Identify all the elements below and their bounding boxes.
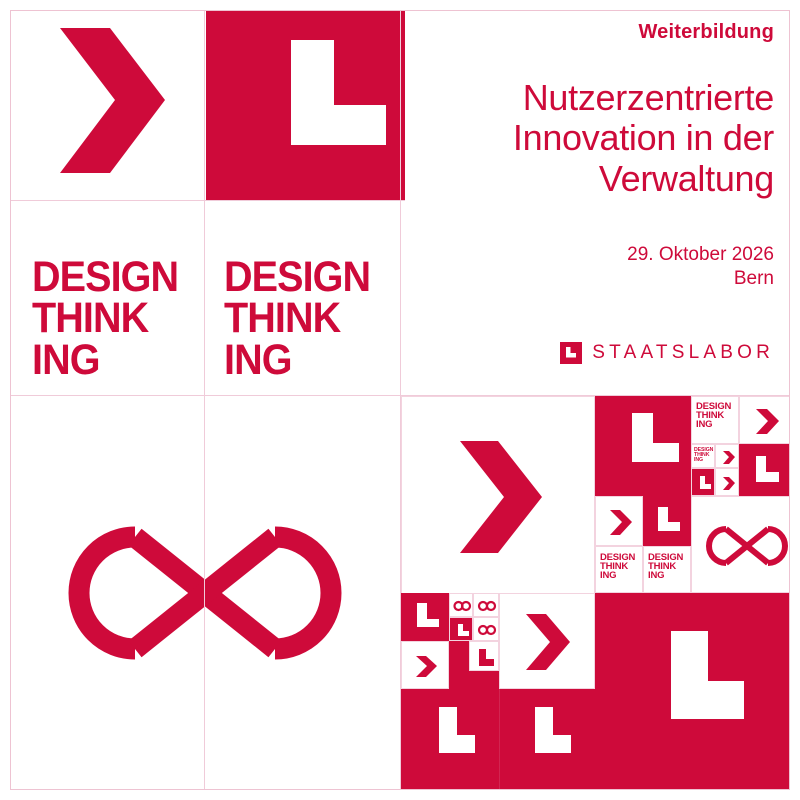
mosaic-cell-red-l-1: [595, 396, 691, 496]
design-thinking-wordmark: DESIGN THINK ING: [696, 402, 738, 429]
mosaic-cell-infinity-xs-3: [473, 617, 499, 641]
mosaic-cell-dt-1: DESIGN THINK ING: [595, 546, 643, 593]
mosaic-cell-infinity: [691, 496, 790, 593]
title-line-1: Nutzerzentrierte: [513, 78, 774, 118]
mosaic-cell-l-bottom-1: [425, 701, 485, 761]
chevron-right-icon: [716, 445, 739, 468]
l-shape-icon: [401, 593, 449, 641]
mosaic-cell-chevron-xs-2: [715, 468, 739, 496]
l-shape-icon: [425, 701, 485, 761]
mosaic-cell-chevron-large: [401, 396, 595, 596]
infinity-loop-icon: [474, 594, 499, 617]
brand-lockup: STAATSLABOR: [560, 342, 774, 364]
dt-line-1: DESIGN: [224, 257, 370, 298]
event-location: Bern: [627, 267, 774, 291]
design-thinking-wordmark: DESIGN THINK ING: [600, 553, 642, 580]
mosaic-cell-dt-3: DESIGN THINK ING: [691, 396, 739, 444]
chevron-right-icon: [500, 594, 595, 689]
l-shape-icon: [470, 642, 499, 671]
mosaic-cell-chevron-sm-2: [739, 396, 790, 444]
l-shape-icon: [521, 701, 581, 761]
tile-infinity: [10, 397, 400, 789]
infinity-loop-icon: [40, 513, 370, 673]
dt-line-3: ING: [224, 340, 370, 381]
tile-mosaic: DESIGN THINK ING DESIGN THINK ING DESIGN…: [401, 396, 790, 789]
mosaic-cell-dt-tiny: DESIGN THINK ING: [691, 444, 715, 468]
chevron-right-icon: [596, 497, 643, 546]
mosaic-cell-chevron-mid: [499, 593, 595, 689]
l-shape-icon: [643, 496, 691, 546]
dt-line-1: DESIGN: [32, 257, 178, 298]
mosaic-cell-infinity-xs-1: [449, 593, 473, 617]
dt-line-3: ING: [694, 458, 714, 463]
l-shape-icon: [206, 10, 405, 200]
mosaic-cell-l-xs-3: [469, 641, 499, 671]
grid-divider-vertical-inner: [204, 10, 205, 790]
mosaic-cell-chevron-xs-1: [715, 444, 739, 468]
mosaic-cell-l-bottom-2: [521, 701, 581, 761]
page-title: Nutzerzentrierte Innovation in der Verwa…: [513, 78, 774, 199]
design-thinking-wordmark: DESIGN THINK ING: [694, 448, 714, 463]
brand-name: STAATSLABOR: [592, 342, 774, 364]
dt-line-2: THINK: [224, 298, 370, 339]
poster-text-column: Weiterbildung Nutzerzentrierte Innovatio…: [410, 10, 790, 395]
chevron-right-icon: [10, 10, 204, 200]
design-thinking-wordmark: DESIGN THINK ING: [224, 257, 370, 381]
title-line-3: Verwaltung: [513, 159, 774, 199]
dt-line-3: ING: [696, 420, 738, 429]
design-thinking-wordmark: DESIGN THINK ING: [648, 553, 690, 580]
chevron-right-icon: [402, 397, 595, 596]
dt-line-2: THINK: [32, 298, 178, 339]
mosaic-cell-infinity-xs-2: [473, 593, 499, 617]
mosaic-cell-l-xs-2: [449, 617, 473, 641]
infinity-loop-icon: [474, 618, 499, 641]
tile-design-thinking-1: DESIGN THINK ING: [10, 202, 204, 395]
tile-chevron: [10, 10, 204, 200]
design-thinking-wordmark: DESIGN THINK ING: [32, 257, 178, 381]
mosaic-cell-l-bottom-large: [656, 621, 776, 741]
mosaic-cell-red-l-3: [739, 444, 790, 496]
staatslabor-l-mark-icon: [560, 342, 582, 364]
l-shape-icon: [692, 469, 715, 496]
l-shape-icon: [450, 618, 473, 641]
grid-divider-vertical-main: [400, 10, 401, 790]
l-shape-icon: [595, 396, 691, 496]
mosaic-cell-l-xs-1: [691, 468, 715, 496]
tile-l-square: [206, 10, 405, 200]
poster-canvas: DESIGN THINK ING DESIGN THINK ING Weiter…: [0, 0, 800, 800]
dt-line-3: ING: [600, 571, 642, 580]
l-shape-icon: [739, 444, 790, 496]
mosaic-divider-v: [499, 689, 500, 789]
l-shape-icon: [656, 621, 776, 741]
event-date: 29. Oktober 2026: [627, 243, 774, 267]
chevron-right-icon: [716, 469, 739, 496]
mosaic-cell-chevron-sm-1: [595, 496, 643, 546]
eyebrow-label: Weiterbildung: [638, 22, 774, 42]
mosaic-cell-chevron-sm-3: [401, 641, 449, 689]
mosaic-cell-dt-2: DESIGN THINK ING: [643, 546, 691, 593]
infinity-loop-icon: [692, 497, 790, 593]
dt-line-3: ING: [32, 340, 178, 381]
grid-divider-horizontal-inner: [10, 200, 405, 201]
infinity-loop-icon: [450, 594, 473, 617]
chevron-right-icon: [402, 642, 449, 689]
title-line-2: Innovation in der: [513, 118, 774, 158]
mosaic-cell-red-l-4: [401, 593, 449, 641]
mosaic-cell-red-l-2: [643, 496, 691, 546]
dt-line-3: ING: [648, 571, 690, 580]
chevron-right-icon: [740, 397, 790, 444]
tile-design-thinking-2: DESIGN THINK ING: [206, 202, 405, 395]
event-details: 29. Oktober 2026 Bern: [627, 243, 774, 291]
